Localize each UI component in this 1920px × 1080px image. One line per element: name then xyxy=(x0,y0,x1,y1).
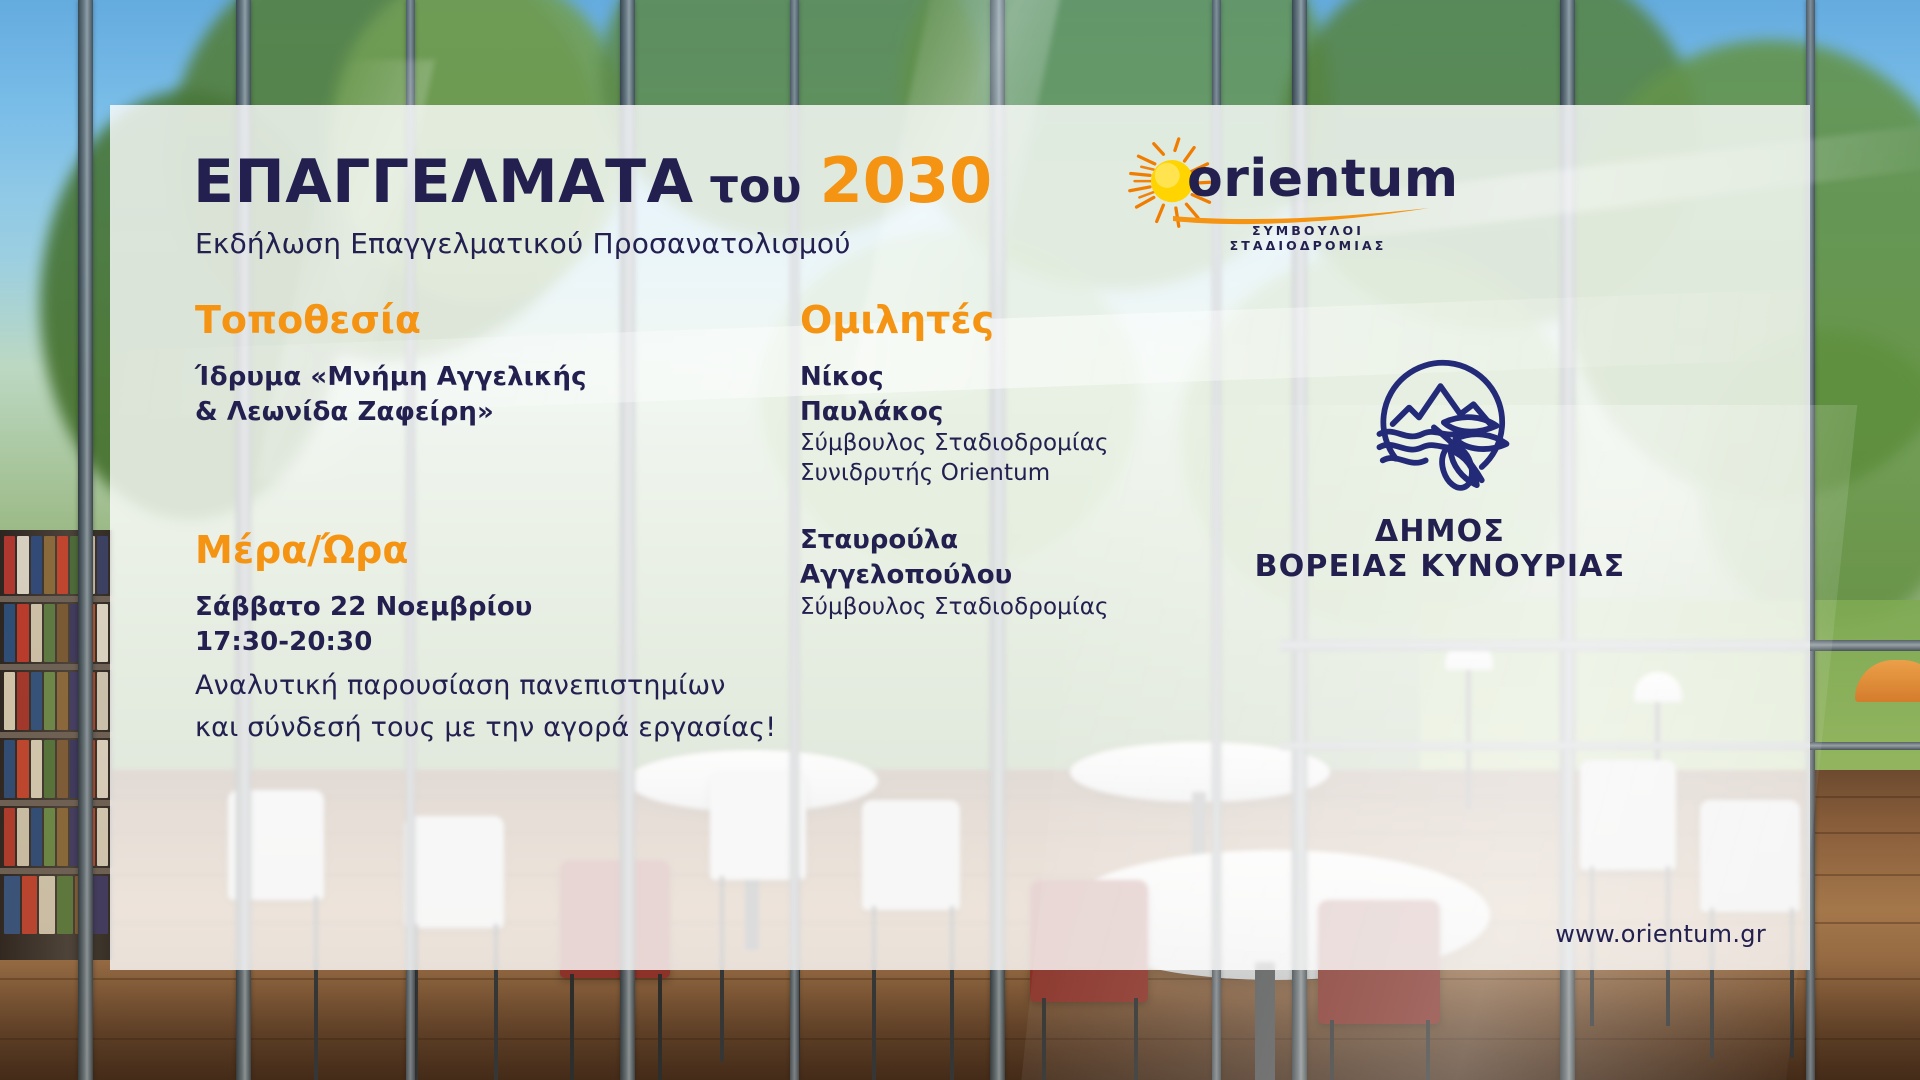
speaker-role-primary: Σύμβουλος Σταδιοδρομίας xyxy=(800,429,1280,459)
speaker-entry: Νίκος Παυλάκος Σύμβουλος Σταδιοδρομίας Σ… xyxy=(800,360,1280,489)
left-column: Τοποθεσία Ίδρυμα «Μνήμη Αγγελικής & Λεων… xyxy=(195,300,755,674)
location-heading: Τοποθεσία xyxy=(195,300,755,342)
orientum-wordmark: orientum xyxy=(1187,153,1459,205)
municipality-name-line-2: ΒΟΡΕΙΑΣ ΚΥΝΟΥΡΙΑΣ xyxy=(1230,549,1650,584)
page-subtitle: Εκδήλωση Επαγγελματικού Προσανατολισμού xyxy=(195,227,851,260)
speakers-column: Ομιλητές Νίκος Παυλάκος Σύμβουλος Σταδιο… xyxy=(800,300,1280,623)
content-panel: ΕΠΑΓΓΕΛΜΑΤΑ του 2030 Εκδήλωση Επαγγελματ… xyxy=(110,105,1810,970)
title-connector: του xyxy=(710,163,802,209)
orientum-tagline: ΣΥΜΒΟΥΛΟΙ ΣΤΑΔΙΟΔΡΟΜΙΑΣ xyxy=(1183,223,1433,253)
location-section: Τοποθεσία Ίδρυμα «Μνήμη Αγγελικής & Λεων… xyxy=(195,300,755,430)
speakers-heading: Ομιλητές xyxy=(800,300,1280,342)
orientum-logo: orientum ΣΥΜΒΟΥΛΟΙ ΣΤΑΔΙΟΔΡΟΜΙΑΣ xyxy=(1125,127,1430,247)
website-url[interactable]: www.orientum.gr xyxy=(1555,920,1766,948)
municipality-logo: ΔΗΜΟΣ ΒΟΡΕΙΑΣ ΚΥΝΟΥΡΙΑΣ xyxy=(1230,335,1650,585)
speaker-last-name: Παυλάκος xyxy=(800,395,1280,430)
footnote: Αναλυτική παρουσίαση πανεπιστημίων και σ… xyxy=(195,665,776,749)
speaker-role-secondary: Συνιδρυτής Orientum xyxy=(800,459,1280,489)
event-date: Σάββατο 22 Νοεμβρίου xyxy=(195,590,755,625)
title-main: ΕΠΑΓΓΕΛΜΑΤΑ xyxy=(193,152,694,212)
page-title: ΕΠΑΓΓΕΛΜΑΤΑ του 2030 xyxy=(193,150,992,212)
title-year: 2030 xyxy=(820,150,993,212)
speaker-first-name: Νίκος xyxy=(800,360,1280,395)
municipality-name-line-1: ΔΗΜΟΣ xyxy=(1230,514,1650,549)
speaker-role-primary: Σύμβουλος Σταδιοδρομίας xyxy=(800,593,1280,623)
speaker-entry: Σταυρούλα Αγγελοπούλου Σύμβουλος Σταδιοδ… xyxy=(800,523,1280,623)
speaker-spacer xyxy=(800,489,1280,523)
event-time: 17:30-20:30 xyxy=(195,625,755,660)
footnote-line-2: και σύνδεσή τους με την αγορά εργασίας! xyxy=(195,707,776,749)
location-line-1: Ίδρυμα «Μνήμη Αγγελικής xyxy=(195,360,755,395)
column-spacer xyxy=(195,444,755,530)
datetime-section: Μέρα/Ώρα Σάββατο 22 Νοεμβρίου 17:30-20:3… xyxy=(195,530,755,660)
speaker-last-name: Αγγελοπούλου xyxy=(800,558,1280,593)
speaker-first-name: Σταυρούλα xyxy=(800,523,1280,558)
datetime-heading: Μέρα/Ώρα xyxy=(195,530,755,572)
location-line-2: & Λεωνίδα Ζαφείρη» xyxy=(195,395,755,430)
footnote-line-1: Αναλυτική παρουσίαση πανεπιστημίων xyxy=(195,665,776,707)
municipality-emblem-icon xyxy=(1358,335,1523,500)
